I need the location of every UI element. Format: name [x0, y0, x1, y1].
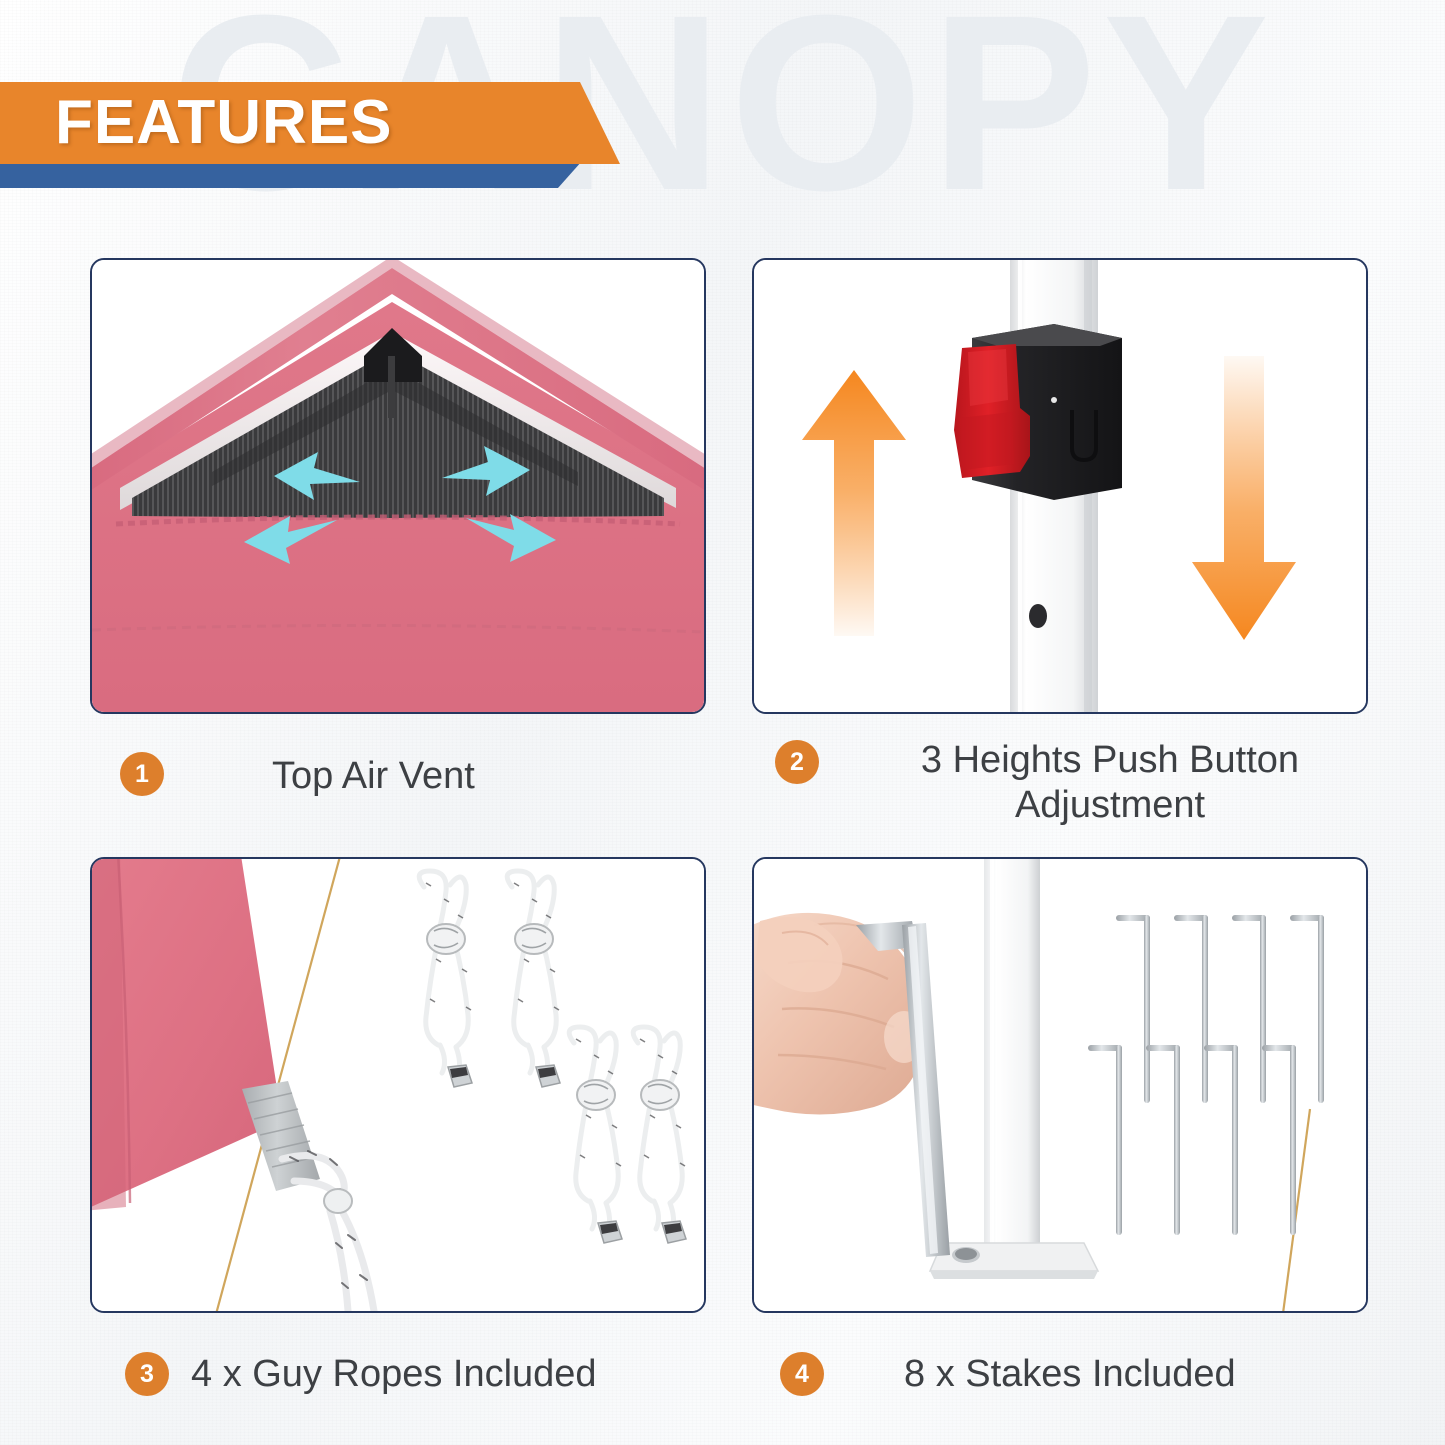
feature-label-2-line1: 3 Heights Push Button — [875, 738, 1345, 783]
feature-caption-1: 1 Top Air Vent — [120, 752, 720, 799]
feature-panel-top-air-vent — [90, 258, 706, 714]
feature-label-2-line2: Adjustment — [875, 783, 1345, 828]
feature-badge-2: 2 — [775, 740, 819, 784]
feature-label-2: 3 Heights Push Button Adjustment — [875, 738, 1345, 828]
feature-label-3: 4 x Guy Ropes Included — [191, 1352, 597, 1397]
feature-panel-guy-ropes — [90, 857, 706, 1313]
feature-panel-push-button — [752, 258, 1368, 714]
feature-label-1: Top Air Vent — [272, 754, 475, 799]
stakes-illustration — [754, 859, 1366, 1311]
feature-caption-3: 3 4 x Guy Ropes Included — [125, 1352, 725, 1397]
feature-badge-3: 3 — [125, 1352, 169, 1396]
feature-badge-4: 4 — [780, 1352, 824, 1396]
guy-ropes-illustration — [92, 859, 704, 1311]
feature-label-4: 8 x Stakes Included — [904, 1352, 1236, 1397]
feature-caption-4: 4 8 x Stakes Included — [780, 1352, 1380, 1397]
feature-caption-2: 2 3 Heights Push Button Adjustment — [775, 740, 1375, 828]
feature-panel-stakes — [752, 857, 1368, 1313]
features-grid: 1 Top Air Vent — [0, 0, 1445, 1445]
push-button-adjuster-illustration — [754, 260, 1366, 712]
feature-badge-1: 1 — [120, 752, 164, 796]
canopy-top-vent-illustration — [92, 260, 704, 712]
